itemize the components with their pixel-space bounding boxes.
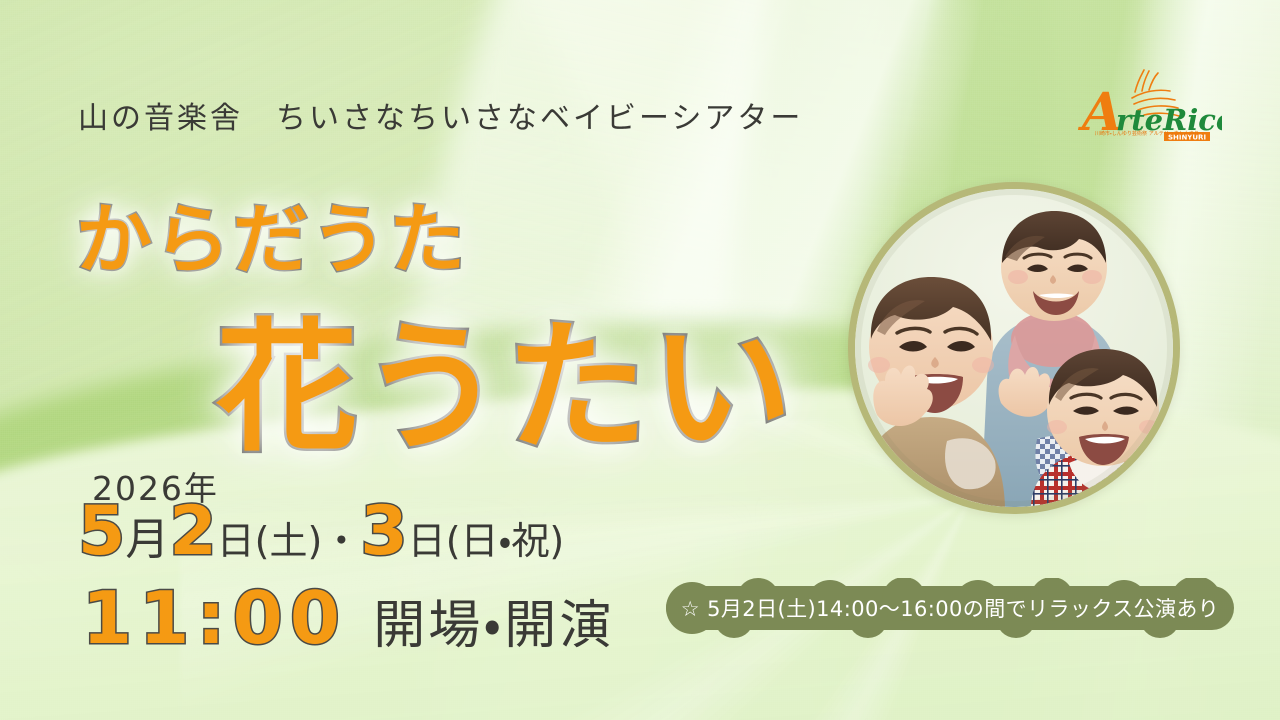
date-month-number: 5: [78, 498, 125, 566]
organizer-line: 山の音楽舎 ちいさなちいさなベイビーシアター: [78, 93, 803, 137]
title-main-hanautai: 花うたい: [216, 272, 795, 478]
poster-root: 山の音楽舎 ちいさなちいさなベイビーシアター A rteRicca SHINYU…: [0, 0, 1280, 720]
date-day2-kanji: 日: [408, 522, 446, 560]
relax-performance-banner: ☆ 5月2日(土)14:00〜16:00の間でリラックス公演あり: [648, 578, 1252, 638]
arte-ricca-logo: A rteRicca SHINYURI 川崎市・しんゆり芸術祭 アルテリッカしん…: [1072, 58, 1222, 150]
time-value: 11:00: [82, 582, 347, 654]
banner-text: ☆ 5月2日(土)14:00〜16:00の間でリラックス公演あり: [648, 578, 1252, 638]
date-day1-weekday: (土): [255, 522, 323, 560]
date-month-kanji: 月: [125, 518, 169, 562]
time-label: 開場・開演: [373, 600, 614, 652]
babies-photo: [855, 189, 1173, 507]
date-day2-number: 3: [360, 498, 407, 566]
date-line: 5 月 2 日 (土) ・ 3 日 (日・祝): [78, 498, 564, 566]
date-day2-weekday: (日・祝): [446, 522, 565, 560]
logo-caption: 川崎市・しんゆり芸術祭 アルテリッカしんゆり: [1072, 130, 1222, 137]
date-separator: ・: [322, 522, 360, 560]
date-day1-kanji: 日: [217, 522, 255, 560]
photo-circle: [848, 182, 1180, 514]
date-day1-number: 2: [169, 498, 216, 566]
time-line: 11:00 開場・開演: [82, 582, 614, 654]
